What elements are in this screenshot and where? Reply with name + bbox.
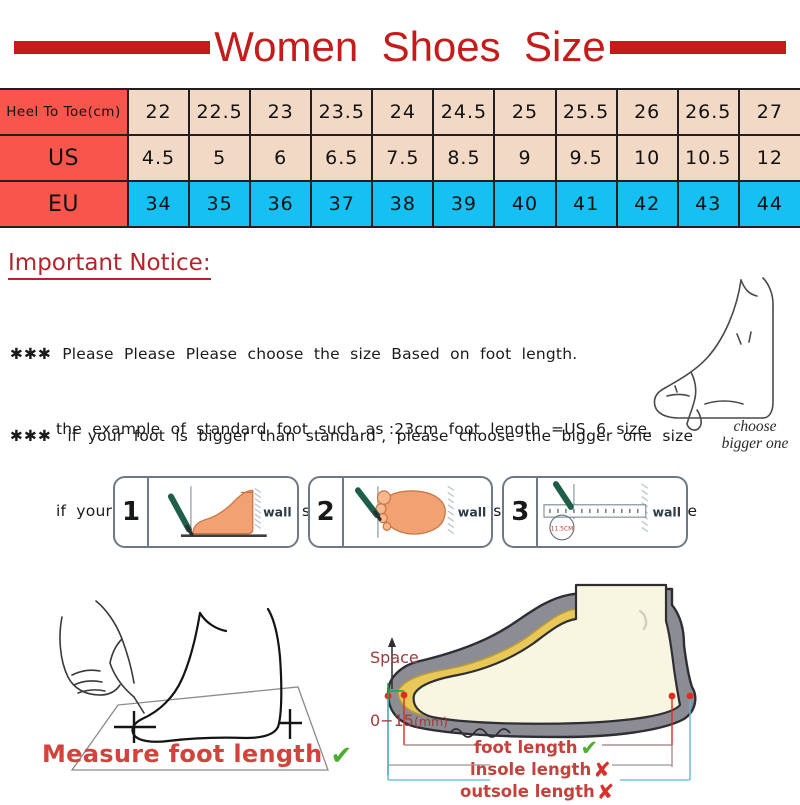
cell-us-2: 6 [250, 135, 311, 181]
step-number-1: 1 [115, 478, 149, 546]
row-header-eu: EU [0, 181, 128, 227]
step-number-2: 2 [310, 478, 344, 546]
check-icon: ✔ [581, 737, 599, 759]
bullet-stars-icon: ✱✱✱ [10, 427, 52, 445]
bullet-stars-icon: ✱✱✱ [10, 345, 52, 363]
cell-eu-1: 35 [189, 181, 250, 227]
cell-eu-10: 44 [739, 181, 800, 227]
cell-cm-5: 24.5 [433, 89, 494, 135]
cell-cm-3: 23.5 [311, 89, 372, 135]
row-header-us: US [0, 135, 128, 181]
measuring-steps: 1 wall [113, 476, 688, 548]
measure-foot-caption: Measure foot length✔ [42, 740, 353, 771]
cell-us-3: 6.5 [311, 135, 372, 181]
cell-us-6: 9 [494, 135, 555, 181]
notice-block2-line1-text: if your foot is bigger than standard , p… [67, 427, 693, 445]
cell-eu-0: 34 [128, 181, 189, 227]
cell-us-7: 9.5 [556, 135, 617, 181]
size-chart-page: Women Shoes Size Heel To Toe(cm) 22 22.5… [0, 0, 800, 800]
table-row: US 4.5 5 6 6.5 7.5 8.5 9 9.5 10 10.5 12 [0, 135, 800, 181]
cell-us-10: 12 [739, 135, 800, 181]
cell-eu-8: 42 [617, 181, 678, 227]
sketch-caption-line1: choose [700, 418, 800, 435]
step-panel-2: 2 wal [308, 476, 494, 548]
check-icon: ✔ [330, 741, 352, 771]
table-row: EU 34 35 36 37 38 39 40 41 42 43 44 [0, 181, 800, 227]
wall-label-1: wall [263, 505, 292, 520]
step-3-illustration: 11.5CM wall [538, 478, 686, 546]
measurement-legend: foot length✔ insole length✘ outsole leng… [460, 737, 760, 803]
cell-us-9: 10.5 [678, 135, 739, 181]
page-title: Women Shoes Size [0, 18, 800, 76]
space-label-line1: Space [370, 647, 448, 668]
cell-cm-0: 22 [128, 89, 189, 135]
wall-label-3: wall [652, 505, 681, 520]
cell-cm-6: 25 [494, 89, 555, 135]
legend-row-foot-length: foot length✔ [460, 737, 760, 759]
legend-label-insole-length: insole length [470, 759, 591, 781]
cell-eu-6: 40 [494, 181, 555, 227]
step-number-3: 3 [504, 478, 538, 546]
step-1-illustration: wall [149, 478, 297, 546]
row-header-heel-to-toe: Heel To Toe(cm) [0, 89, 128, 135]
step-2-illustration: wall [344, 478, 492, 546]
notice-block2-line1: ✱✱✱ if your foot is bigger than standard… [10, 424, 670, 449]
table-row: Heel To Toe(cm) 22 22.5 23 23.5 24 24.5 … [0, 89, 800, 135]
cell-cm-4: 24 [372, 89, 433, 135]
wall-label-2: wall [458, 505, 487, 520]
cell-cm-1: 22.5 [189, 89, 250, 135]
space-range: 0−15 [370, 711, 414, 730]
step-panel-1: 1 wall [113, 476, 299, 548]
size-table: Heel To Toe(cm) 22 22.5 23 23.5 24 24.5 … [0, 88, 800, 228]
sketch-caption-line2: bigger one [700, 435, 800, 452]
legend-row-insole-length: insole length✘ [460, 759, 760, 781]
cell-eu-3: 37 [311, 181, 372, 227]
foot-sketch-caption: choose bigger one [700, 418, 800, 452]
cell-us-8: 10 [617, 135, 678, 181]
shoe-cross-section-diagram: Space 0−15(mm) foot length✔ insole lengt… [362, 565, 800, 800]
cell-cm-10: 27 [739, 89, 800, 135]
title-rule-left [14, 41, 210, 54]
step-panel-3: 3 [502, 476, 688, 548]
cell-cm-8: 26 [617, 89, 678, 135]
cell-eu-7: 41 [556, 181, 617, 227]
title-text: Women Shoes Size [214, 24, 605, 70]
cell-cm-7: 25.5 [556, 89, 617, 135]
cell-us-4: 7.5 [372, 135, 433, 181]
cell-cm-9: 26.5 [678, 89, 739, 135]
cross-icon: ✘ [593, 759, 611, 781]
cell-us-5: 8.5 [433, 135, 494, 181]
legend-label-foot-length: foot length [474, 737, 578, 759]
title-rule-right [610, 41, 786, 54]
ruler-reading: 11.5CM [551, 525, 574, 532]
space-label: Space 0−15(mm) [370, 605, 448, 774]
measure-caption-text: Measure foot length [42, 740, 322, 768]
cell-us-0: 4.5 [128, 135, 189, 181]
cell-cm-2: 23 [250, 89, 311, 135]
marker-outsole-back [687, 693, 694, 700]
space-label-line2: 0−15(mm) [370, 710, 448, 732]
space-unit: (mm) [414, 714, 448, 729]
notice-block1-line1-text: Please Please Please choose the size Bas… [62, 345, 577, 363]
notice-heading: Important Notice: [8, 250, 211, 280]
cell-us-1: 5 [189, 135, 250, 181]
cell-eu-2: 36 [250, 181, 311, 227]
cell-eu-4: 38 [372, 181, 433, 227]
cell-eu-5: 39 [433, 181, 494, 227]
notice-block1-line1: ✱✱✱ Please Please Please choose the size… [10, 342, 670, 367]
cell-eu-9: 43 [678, 181, 739, 227]
